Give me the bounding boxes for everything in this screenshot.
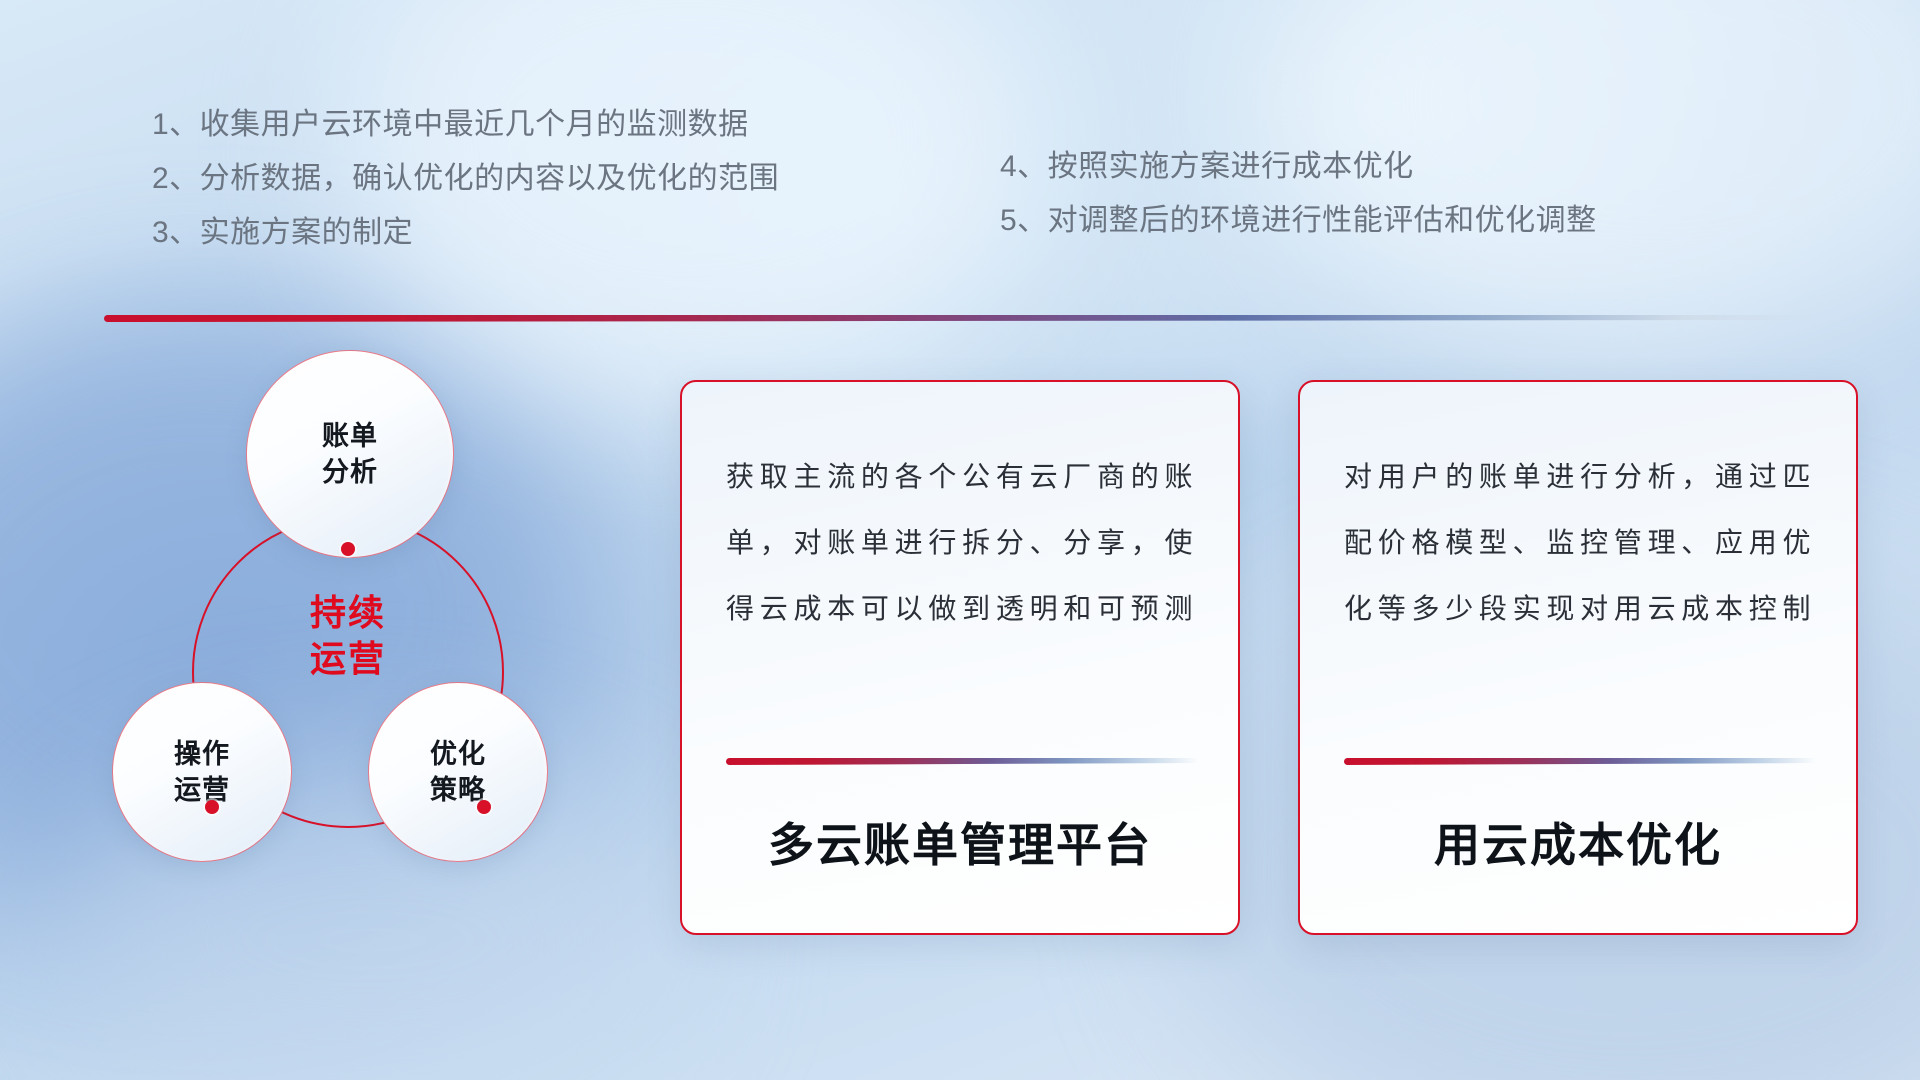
card-title: 用云成本优化 bbox=[1300, 809, 1856, 875]
slide-canvas: 1、收集用户云环境中最近几个月的监测数据 2、分析数据，确认优化的内容以及优化的… bbox=[0, 0, 1920, 1080]
card-body-line3: 得云成本可以做到透明和可预测 bbox=[726, 576, 1194, 642]
node-dot-right bbox=[477, 800, 491, 814]
bubble-label-line2: 运营 bbox=[174, 772, 230, 808]
bubble-label: 优化 策略 bbox=[430, 736, 486, 808]
center-label-line2: 运营 bbox=[192, 636, 504, 682]
card-body-line3: 化等多少段实现对用云成本控制 bbox=[1344, 576, 1812, 642]
card-body-line1: 获取主流的各个公有云厂商的账 bbox=[726, 444, 1194, 510]
card-cloud-cost-optimization[interactable]: 对用户的账单进行分析，通过匹 配价格模型、监控管理、应用优 化等多少段实现对用云… bbox=[1298, 380, 1858, 935]
bubble-operations[interactable]: 操作 运营 bbox=[112, 682, 292, 862]
step-item-3: 3、实施方案的制定 bbox=[152, 206, 779, 260]
card-body: 获取主流的各个公有云厂商的账 单，对账单进行拆分、分享，使 得云成本可以做到透明… bbox=[726, 444, 1194, 642]
step-item-4: 4、按照实施方案进行成本优化 bbox=[1000, 140, 1597, 194]
card-body-line1: 对用户的账单进行分析，通过匹 bbox=[1344, 444, 1812, 510]
cycle-diagram: 账单 分析 操作 运营 优化 策略 持续 运营 bbox=[100, 350, 620, 950]
bubble-label: 操作 运营 bbox=[174, 736, 230, 808]
bubble-label-line1: 操作 bbox=[174, 736, 230, 772]
bubble-label: 账单 分析 bbox=[322, 418, 378, 490]
card-title: 多云账单管理平台 bbox=[682, 809, 1238, 875]
step-item-1: 1、收集用户云环境中最近几个月的监测数据 bbox=[152, 98, 779, 152]
card-multicloud-billing[interactable]: 获取主流的各个公有云厂商的账 单，对账单进行拆分、分享，使 得云成本可以做到透明… bbox=[680, 380, 1240, 935]
steps-column-left: 1、收集用户云环境中最近几个月的监测数据 2、分析数据，确认优化的内容以及优化的… bbox=[152, 98, 779, 260]
node-dot-top bbox=[341, 542, 355, 556]
bubble-bill-analysis[interactable]: 账单 分析 bbox=[246, 350, 454, 558]
center-label-line1: 持续 bbox=[192, 590, 504, 636]
step-item-2: 2、分析数据，确认优化的内容以及优化的范围 bbox=[152, 152, 779, 206]
diagram-center-label: 持续 运营 bbox=[192, 590, 504, 682]
node-dot-left bbox=[205, 800, 219, 814]
card-body: 对用户的账单进行分析，通过匹 配价格模型、监控管理、应用优 化等多少段实现对用云… bbox=[1344, 444, 1812, 642]
card-divider bbox=[726, 758, 1198, 765]
bubble-optimization-strategy[interactable]: 优化 策略 bbox=[368, 682, 548, 862]
card-body-line2: 单，对账单进行拆分、分享，使 bbox=[726, 510, 1194, 576]
bubble-label-line1: 账单 bbox=[322, 418, 378, 454]
bubble-label-line1: 优化 bbox=[430, 736, 486, 772]
step-item-5: 5、对调整后的环境进行性能评估和优化调整 bbox=[1000, 194, 1597, 248]
content-cards: 获取主流的各个公有云厂商的账 单，对账单进行拆分、分享，使 得云成本可以做到透明… bbox=[680, 380, 1880, 950]
section-divider bbox=[104, 315, 1820, 322]
steps-column-right: 4、按照实施方案进行成本优化 5、对调整后的环境进行性能评估和优化调整 bbox=[1000, 140, 1597, 248]
card-divider bbox=[1344, 758, 1816, 765]
card-body-line2: 配价格模型、监控管理、应用优 bbox=[1344, 510, 1812, 576]
bubble-label-line2: 分析 bbox=[322, 454, 378, 490]
process-steps: 1、收集用户云环境中最近几个月的监测数据 2、分析数据，确认优化的内容以及优化的… bbox=[0, 98, 1920, 258]
